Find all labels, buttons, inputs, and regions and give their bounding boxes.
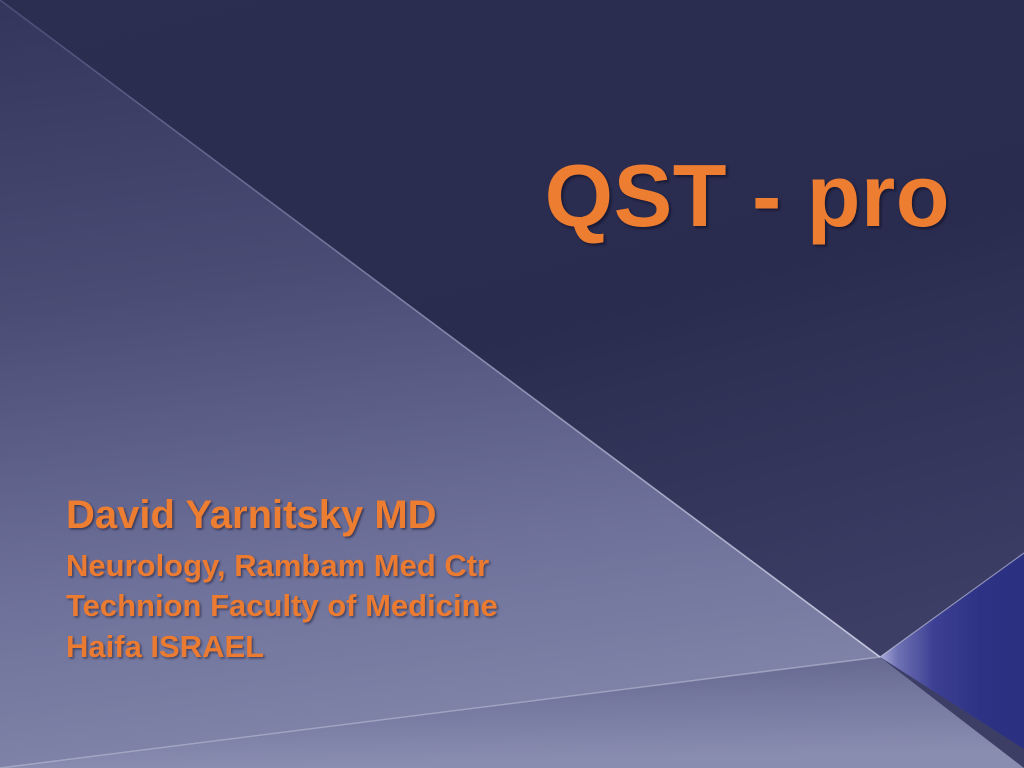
affiliation-line-1: Neurology, Rambam Med Ctr <box>66 546 686 586</box>
author-name: David Yarnitsky MD <box>66 494 686 537</box>
title-block: QST - pro <box>0 152 950 240</box>
slide-title: QST - pro <box>545 152 950 240</box>
affiliation-line-2: Technion Faculty of Medicine <box>66 586 686 626</box>
affiliation-line-3: Haifa ISRAEL <box>66 627 686 667</box>
subtitle-block: David Yarnitsky MD Neurology, Rambam Med… <box>66 494 686 667</box>
presentation-slide: QST - pro David Yarnitsky MD Neurology, … <box>0 0 1024 768</box>
affiliation-list: Neurology, Rambam Med Ctr Technion Facul… <box>66 546 686 667</box>
